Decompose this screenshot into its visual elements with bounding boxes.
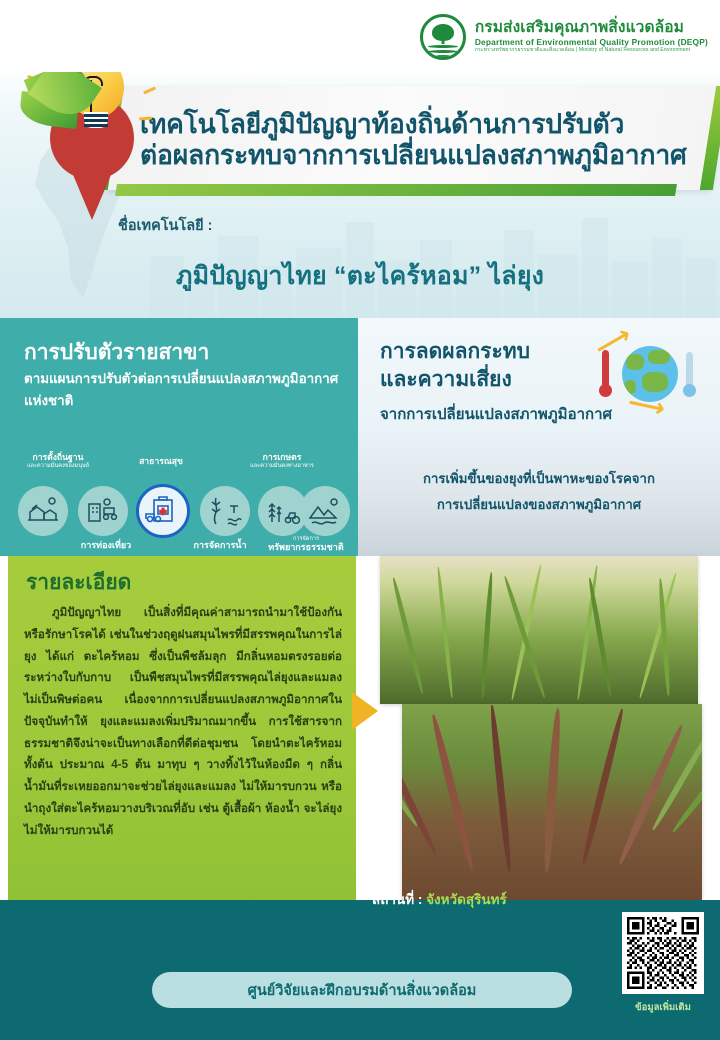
globe-thermometer-cycle-icon: ⟶ ⟶ [590,332,698,418]
location-value: จังหวัดสุรินทร์ [426,892,507,907]
yellow-right-arrow-icon [352,692,378,730]
hot-thermometer-icon [602,350,609,388]
mitigation-heading-line-2: และความเสี่ยง [380,366,530,394]
deqp-tree-water-emblem-icon [420,14,466,60]
lightbulb-base [84,112,108,128]
adaptation-subheading: ตามแผนการปรับตัวต่อการเปลี่ยนแปลงสภาพภูม… [24,368,344,411]
title-line-2: ต่อผลกระทบจากการเปลี่ยนแปลงสภาพภูมิอากาศ [140,140,706,171]
mitigation-heading: การลดผลกระทบ และความเสี่ยง [380,338,530,395]
mitigation-note-line-2: การเปลี่ยนแปลงของสภาพภูมิอากาศ [358,492,720,518]
poster-root: กรมส่งเสริมคุณภาพสิ่งแวดล้อม Department … [0,0,720,1040]
location-label: สถานที่ : [372,892,422,907]
details-heading: รายละเอียด [26,566,131,599]
qr-caption: ข้อมูลเพิ่มเติม [606,1000,720,1015]
globe-shape [622,346,678,402]
location-info: สถานที่ : จังหวัดสุรินทร์ [372,888,507,910]
adaptation-heading: การปรับตัวรายสาขา [24,336,209,369]
sector-label-agriculture: การเกษตร และความมั่นคงทางอาหาร [230,452,334,470]
center-name-pill: ศูนย์วิจัยและฝึกอบรมด้านสิ่งแวดล้อม [152,972,572,1008]
lemongrass-clump-green-photo [380,556,698,704]
org-name-english: Department of Environmental Quality Prom… [475,38,708,47]
center-name-text: ศูนย์วิจัยและฝึกอบรมด้านสิ่งแวดล้อม [248,979,477,1002]
org-name-thai: กรมส่งเสริมคุณภาพสิ่งแวดล้อม [475,20,708,37]
sector-label-public-health: สาธารณสุข [118,456,204,466]
page-footer: สถานที่ : จังหวัดสุรินทร์ ศูนย์วิจัยและฝ… [0,900,720,1040]
qr-code-icon[interactable] [622,912,704,994]
sector-label-settlement: การตั้งถิ่นฐาน และความมั่นคงของมนุษย์ [8,452,108,470]
mitigation-subheading: จากการเปลี่ยนแปลงสภาพภูมิอากาศ [380,402,612,426]
technology-name-value: ภูมิปัญญาไทย “ตะไคร้หอม” ไล่ยุง [0,256,720,296]
sector-label-natural-resources: การจัดการ ทรัพยากรธรรมชาติ [260,536,352,553]
mitigation-panel: การลดผลกระทบ และความเสี่ยง จากการเปลี่ยน… [358,318,720,556]
mitigation-note-line-1: การเพิ่มขึ้นของยุงที่เป็นพาหะของโรคจาก [358,466,720,492]
sector-icon-settlement-houses-icon[interactable] [18,486,68,536]
cold-thermometer-icon [686,352,693,388]
details-box: รายละเอียด ภูมิปัญญาไทย เป็นสิ่งที่มีคุณ… [8,556,356,944]
title-line-1: เทคโนโลยีภูมิปัญญาท้องถิ่นด้านการปรับตัว [140,109,706,140]
qr-code-svg [627,917,699,989]
sector-icons-row: การตั้งถิ่นฐาน และความมั่นคงของมนุษย์ สา… [8,464,352,550]
poster-title: เทคโนโลยีภูมิปัญญาท้องถิ่นด้านการปรับตัว… [140,94,706,186]
page-header: กรมส่งเสริมคุณภาพสิ่งแวดล้อม Department … [0,0,720,72]
sector-icon-tourism-city-car-icon[interactable] [78,486,128,536]
lemongrass-stalks-closeup-photo [402,704,702,900]
sector-label-tourism: การท่องเที่ยว [60,540,152,551]
adaptation-panel: การปรับตัวรายสาขา ตามแผนการปรับตัวต่อการ… [0,318,358,556]
mitigation-note: การเพิ่มขึ้นของยุงที่เป็นพาหะของโรคจาก ก… [358,466,720,517]
mitigation-heading-line-1: การลดผลกระทบ [380,338,530,366]
sector-label-water-management: การจัดการน้ำ [174,540,266,551]
ministry-line: กระทรวงทรัพยากรธรรมชาติและสิ่งแวดล้อม | … [475,48,708,54]
lightbulb-leaf-map-pin-icon [14,50,166,234]
deqp-organization-logo: กรมส่งเสริมคุณภาพสิ่งแวดล้อม Department … [420,14,708,60]
sector-icon-public-health-hospital-icon[interactable] [136,484,190,538]
sector-icon-natural-resources-mountain-icon[interactable] [300,486,350,536]
details-body-text: ภูมิปัญญาไทย เป็นสิ่งที่มีคุณค่าสามารถนำ… [24,602,342,842]
sector-icon-water-management-tap-river-icon[interactable] [200,486,250,536]
